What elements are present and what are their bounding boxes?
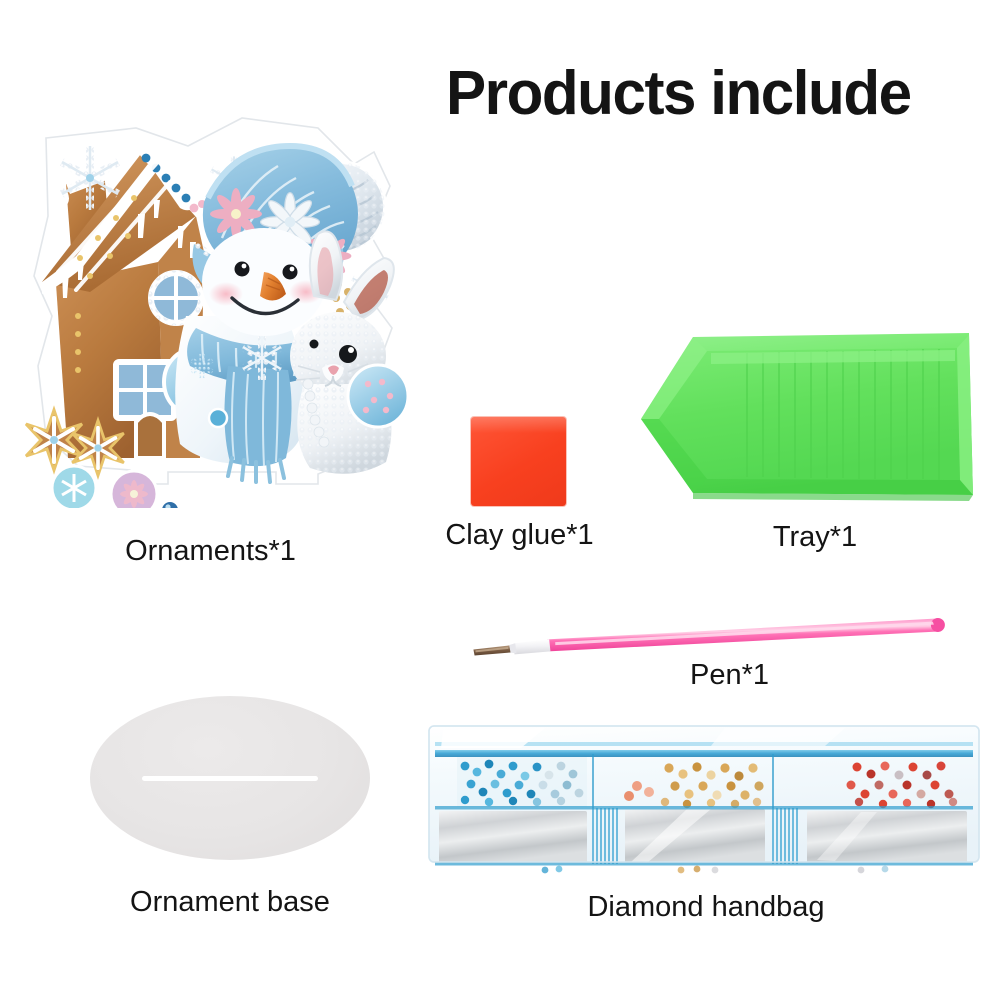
clay-glue-square-image: [471, 417, 566, 506]
pink-drill-pen-image: [455, 607, 955, 657]
green-drill-tray-image: [619, 323, 978, 507]
caption-clay-glue: Clay glue*1: [388, 519, 651, 552]
oval-ornament-stand-image: [90, 696, 370, 860]
caption-ornament-base: Ornament base: [90, 886, 370, 919]
ornament-base-slot: [142, 776, 318, 781]
diamond-drill-storage-pouch-image: [425, 712, 983, 875]
drill-section-blue: [457, 757, 587, 807]
product-include-poster: Products include: [0, 0, 1001, 1001]
page-title: Products include: [446, 63, 975, 125]
caption-diamond-handbag: Diamond handbag: [427, 891, 985, 924]
caption-pen: Pen*1: [617, 659, 842, 692]
caption-tray: Tray*1: [684, 521, 946, 554]
caption-ornaments: Ornaments*1: [33, 535, 388, 568]
snowman-gingerbread-house-ornament-image: [18, 66, 428, 508]
